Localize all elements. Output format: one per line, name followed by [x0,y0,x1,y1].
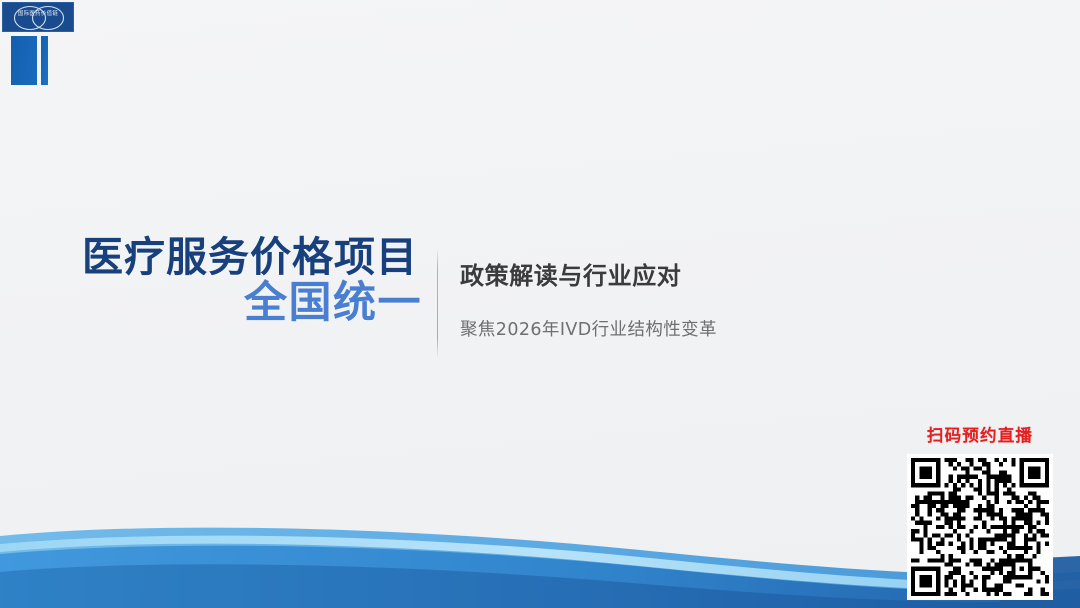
logo-block[interactable]: 国际医药价值链 [0,0,92,92]
logo-badge: 国际医药价值链 [2,2,74,32]
page-title-line-2: 全国统一 [82,281,422,326]
qr-frame [907,454,1053,600]
slide-canvas: 国际医药价值链 医疗服务价格项目 全国统一 政策解读与行业应对 聚焦2026年I… [0,0,1080,608]
page-title-line-1: 医疗服务价格项目 [82,236,422,279]
subtitle-group: 政策解读与行业应对 聚焦2026年IVD行业结构性变革 [460,262,717,341]
title-divider [437,248,438,358]
subtitle-headline: 政策解读与行业应对 [460,262,717,291]
qr-code-image[interactable] [911,458,1049,596]
logo-bar-wide [11,36,37,85]
subtitle-secondary: 聚焦2026年IVD行业结构性变革 [460,320,717,341]
qr-block[interactable]: 扫码预约直播 [901,428,1059,600]
qr-caption: 扫码预约直播 [901,428,1059,445]
logo-bar-thin [41,36,48,85]
page-title: 医疗服务价格项目 全国统一 [82,236,422,325]
logo-rings-icon [3,3,74,32]
logo-badge-text: 国际医药价值链 [3,12,73,17]
